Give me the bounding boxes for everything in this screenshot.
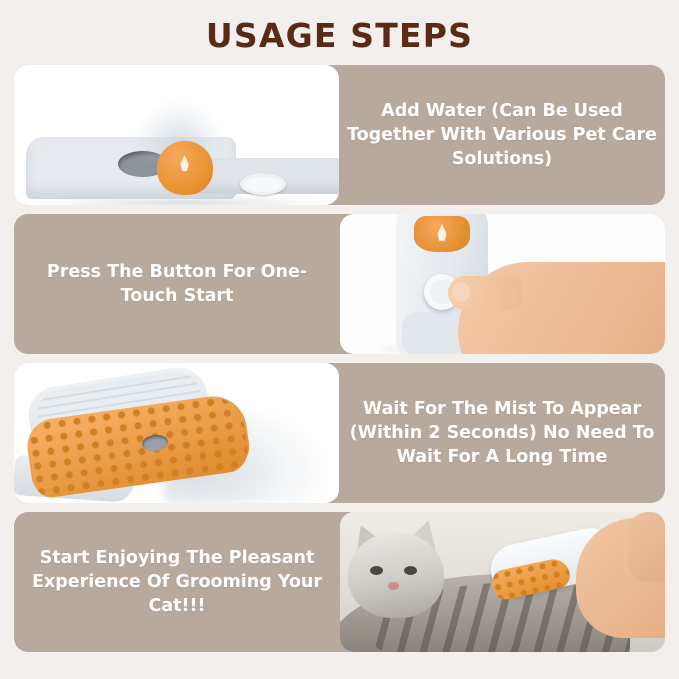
brush-head-with-orange-bristles-and-mist-photo — [14, 363, 339, 503]
step-3-label: Wait For The Mist To Appear (Within 2 Se… — [347, 397, 657, 469]
step-4-label: Start Enjoying The Pleasant Experience O… — [22, 546, 332, 618]
step-1-text-panel: Add Water (Can Be Used Together With Var… — [339, 65, 665, 205]
product-handle-with-orange-water-cap-photo — [14, 65, 339, 205]
step-row-2: Press The Button For One-Touch Start — [14, 214, 665, 354]
step-4-image — [340, 512, 665, 652]
step-1-label: Add Water (Can Be Used Together With Var… — [347, 99, 657, 171]
step-3-image — [14, 363, 339, 503]
step-row-3: Wait For The Mist To Appear (Within 2 Se… — [14, 363, 665, 503]
step-4-text-panel: Start Enjoying The Pleasant Experience O… — [14, 512, 340, 652]
step-row-1: Add Water (Can Be Used Together With Var… — [14, 65, 665, 205]
step-3-text-panel: Wait For The Mist To Appear (Within 2 Se… — [339, 363, 665, 503]
usage-steps-page: USAGE STEPS Add Water (Can Be Used Toget… — [0, 0, 679, 679]
page-title: USAGE STEPS — [14, 0, 665, 65]
finger-pressing-power-button-photo — [340, 214, 665, 354]
step-row-4: Start Enjoying The Pleasant Experience O… — [14, 512, 665, 652]
step-2-label: Press The Button For One-Touch Start — [22, 260, 332, 308]
cat-being-groomed-with-steam-brush-photo — [340, 512, 665, 652]
step-2-text-panel: Press The Button For One-Touch Start — [14, 214, 340, 354]
step-1-image — [14, 65, 339, 205]
step-2-image — [340, 214, 665, 354]
